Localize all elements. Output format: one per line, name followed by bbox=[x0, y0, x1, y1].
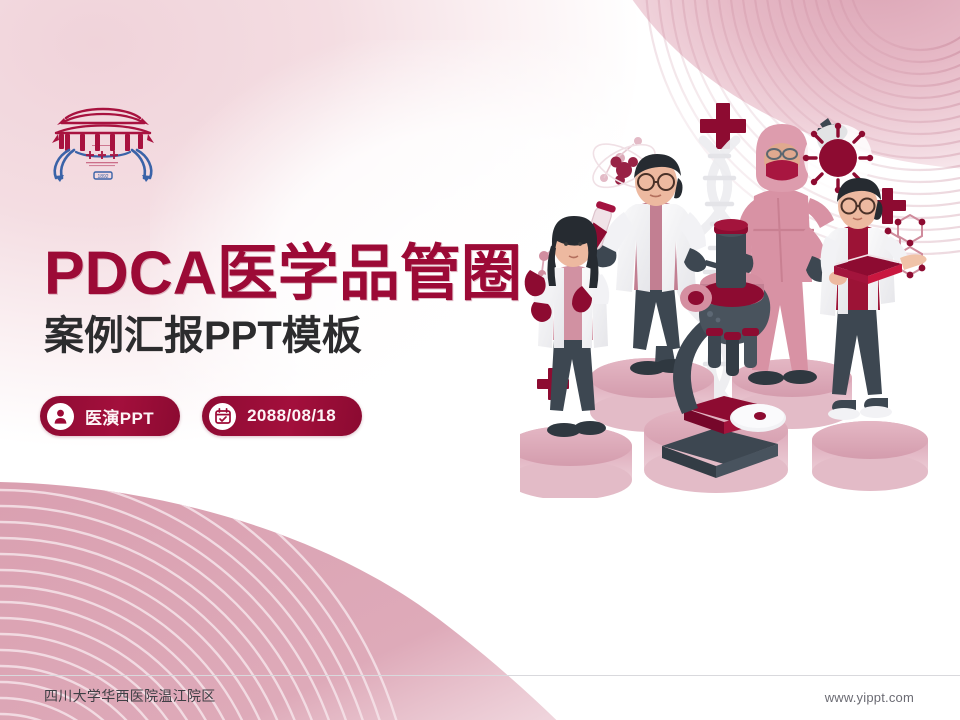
footer-organization: 四川大学华西医院温江院区 bbox=[44, 686, 216, 706]
footer-divider bbox=[0, 675, 960, 676]
svg-text:1892: 1892 bbox=[97, 174, 108, 180]
person-icon bbox=[47, 403, 74, 430]
west-china-hospital-logo: 1892 bbox=[42, 92, 164, 184]
presentation-slide: 1892 bbox=[0, 0, 960, 720]
male-scientist-with-book bbox=[820, 178, 927, 420]
page-title: PDCA医学品管圈 bbox=[44, 243, 522, 304]
footer-website: www.yippt.com bbox=[825, 690, 914, 705]
date-pill[interactable]: 2088/08/18 bbox=[202, 396, 362, 436]
meta-pill-row: 医演PPT 2088/08/18 bbox=[40, 396, 362, 436]
author-label: 医演PPT bbox=[85, 404, 154, 429]
author-pill[interactable]: 医演PPT bbox=[40, 396, 180, 436]
date-label: 2088/08/18 bbox=[247, 406, 336, 426]
calendar-icon bbox=[209, 403, 236, 430]
page-subtitle: 案例汇报PPT模板 bbox=[44, 316, 362, 356]
medical-research-team-illustration bbox=[520, 78, 960, 498]
